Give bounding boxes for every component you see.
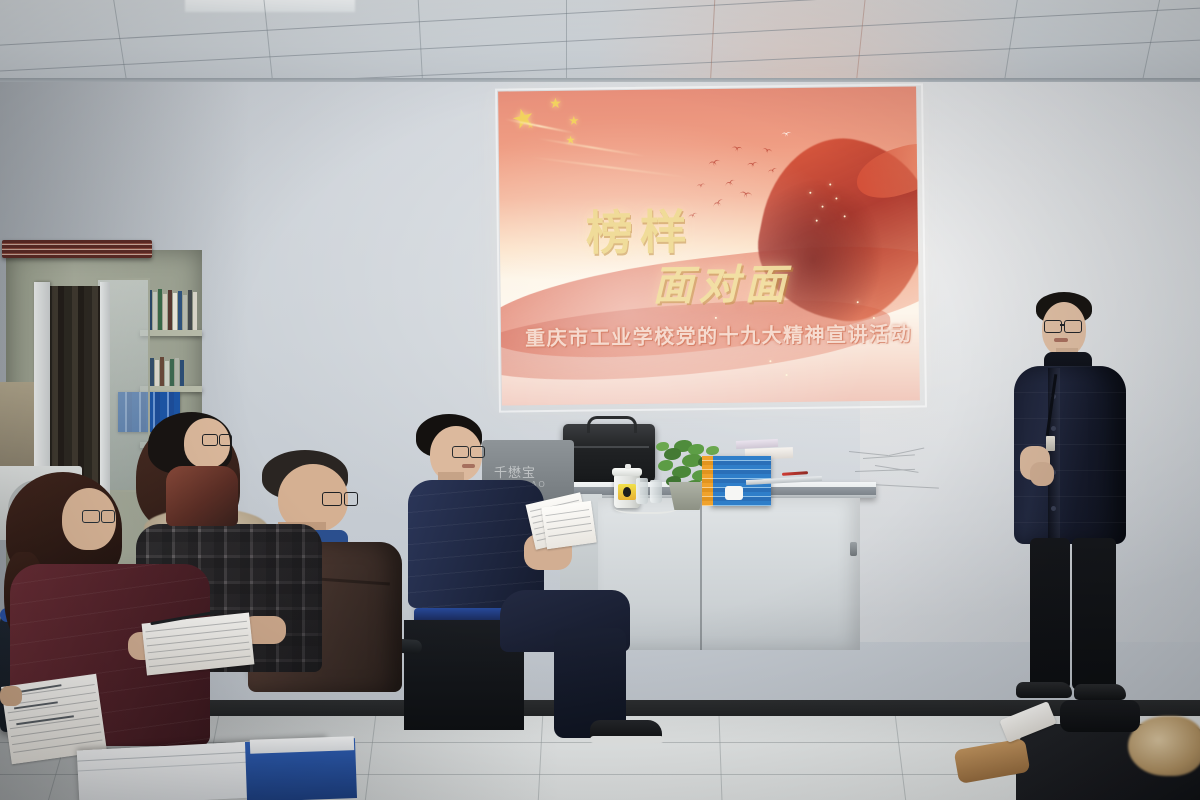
chair-back-corner[interactable]: [1060, 700, 1140, 732]
presenter-mouth: [1054, 338, 1068, 342]
meeting-room-photo: ★ ★ ★ ★ ★: [0, 0, 1200, 800]
book-row: [148, 288, 197, 330]
attendee-glasses: [82, 510, 116, 512]
presenter: [1000, 290, 1160, 730]
handout-sheet[interactable]: [541, 501, 596, 550]
projector-haze: [498, 86, 920, 405]
presenter-glasses: [1044, 320, 1086, 322]
suspended-ceiling: [0, 0, 1200, 84]
tissue: [725, 486, 743, 500]
presenter-leg: [1030, 538, 1070, 690]
id-badge: [1046, 436, 1055, 451]
wooden-board: [0, 382, 34, 472]
presenter-shoe: [1074, 684, 1126, 700]
ceiling-grid-line: [418, 0, 424, 84]
desk-lock[interactable]: [850, 542, 857, 556]
shoe-sole: [590, 736, 664, 743]
presenter-shoe: [1016, 682, 1072, 698]
booklet-spines: [702, 456, 713, 506]
projected-slide: ★ ★ ★ ★ ★: [498, 86, 920, 405]
attendee-mouth: [462, 464, 475, 468]
desk-seam: [700, 498, 702, 650]
slide-caption: 重庆市工业学校党的十九大精神宣讲活动: [525, 318, 905, 352]
attendee-glasses: [452, 446, 486, 448]
attendee-glasses: [202, 434, 232, 436]
presenter-hand: [1030, 462, 1054, 486]
ceiling-grid-line: [263, 0, 273, 84]
presenter-leg: [1072, 538, 1116, 690]
attendee-hand: [0, 686, 22, 706]
ceiling-grid-line: [566, 0, 567, 84]
stacked-boards: [2, 240, 152, 258]
ceiling-light-panel: [185, 0, 355, 12]
ceiling-grid-line: [113, 0, 128, 84]
book-row: [150, 356, 184, 386]
slide-subtitle: 面对面: [652, 250, 791, 312]
